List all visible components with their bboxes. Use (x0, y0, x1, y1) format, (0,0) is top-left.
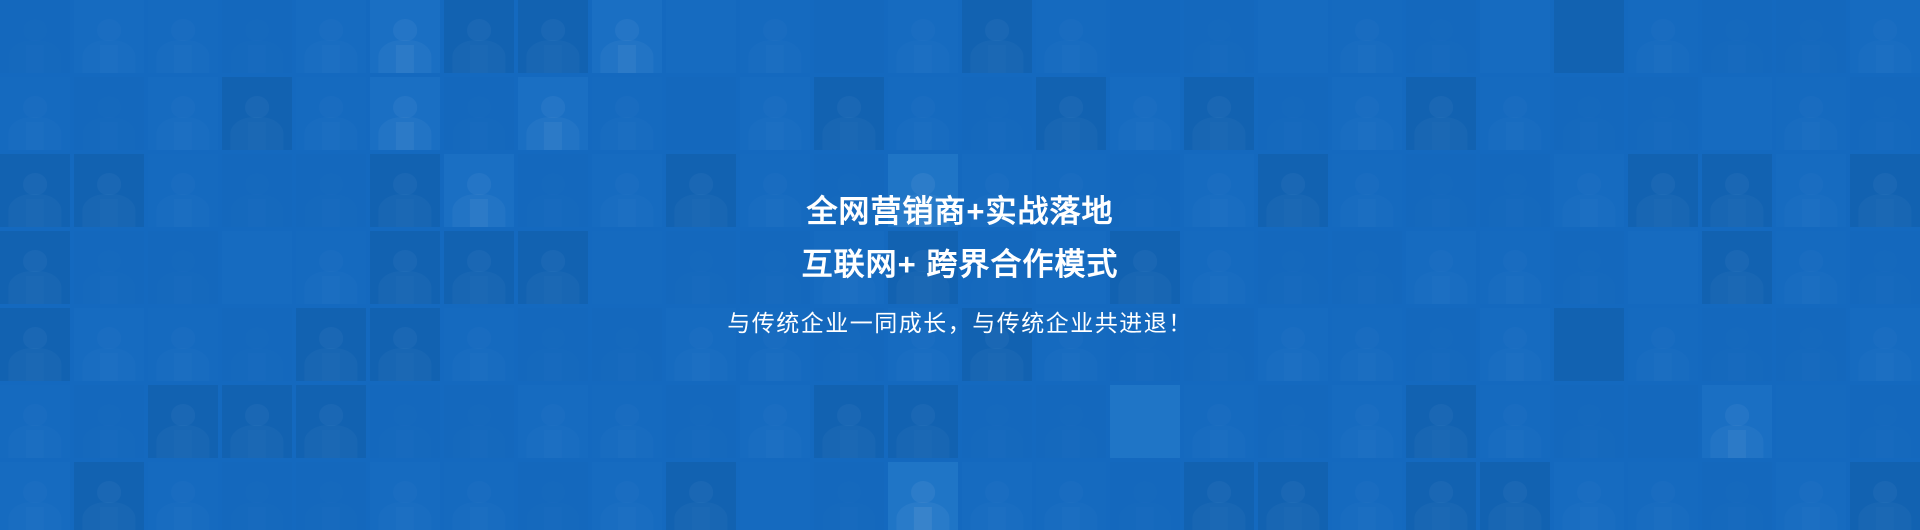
banner-headline-secondary: 互联网+ 跨界合作模式 (802, 249, 1119, 280)
hero-banner: 全网营销商+实战落地 互联网+ 跨界合作模式 与传统企业一同成长，与传统企业共进… (0, 0, 1920, 530)
banner-subtitle: 与传统企业一同成长，与传统企业共进退！ (727, 312, 1193, 335)
banner-headline-primary: 全网营销商+实战落地 (806, 196, 1113, 227)
banner-copy: 全网营销商+实战落地 互联网+ 跨界合作模式 与传统企业一同成长，与传统企业共进… (0, 0, 1920, 530)
